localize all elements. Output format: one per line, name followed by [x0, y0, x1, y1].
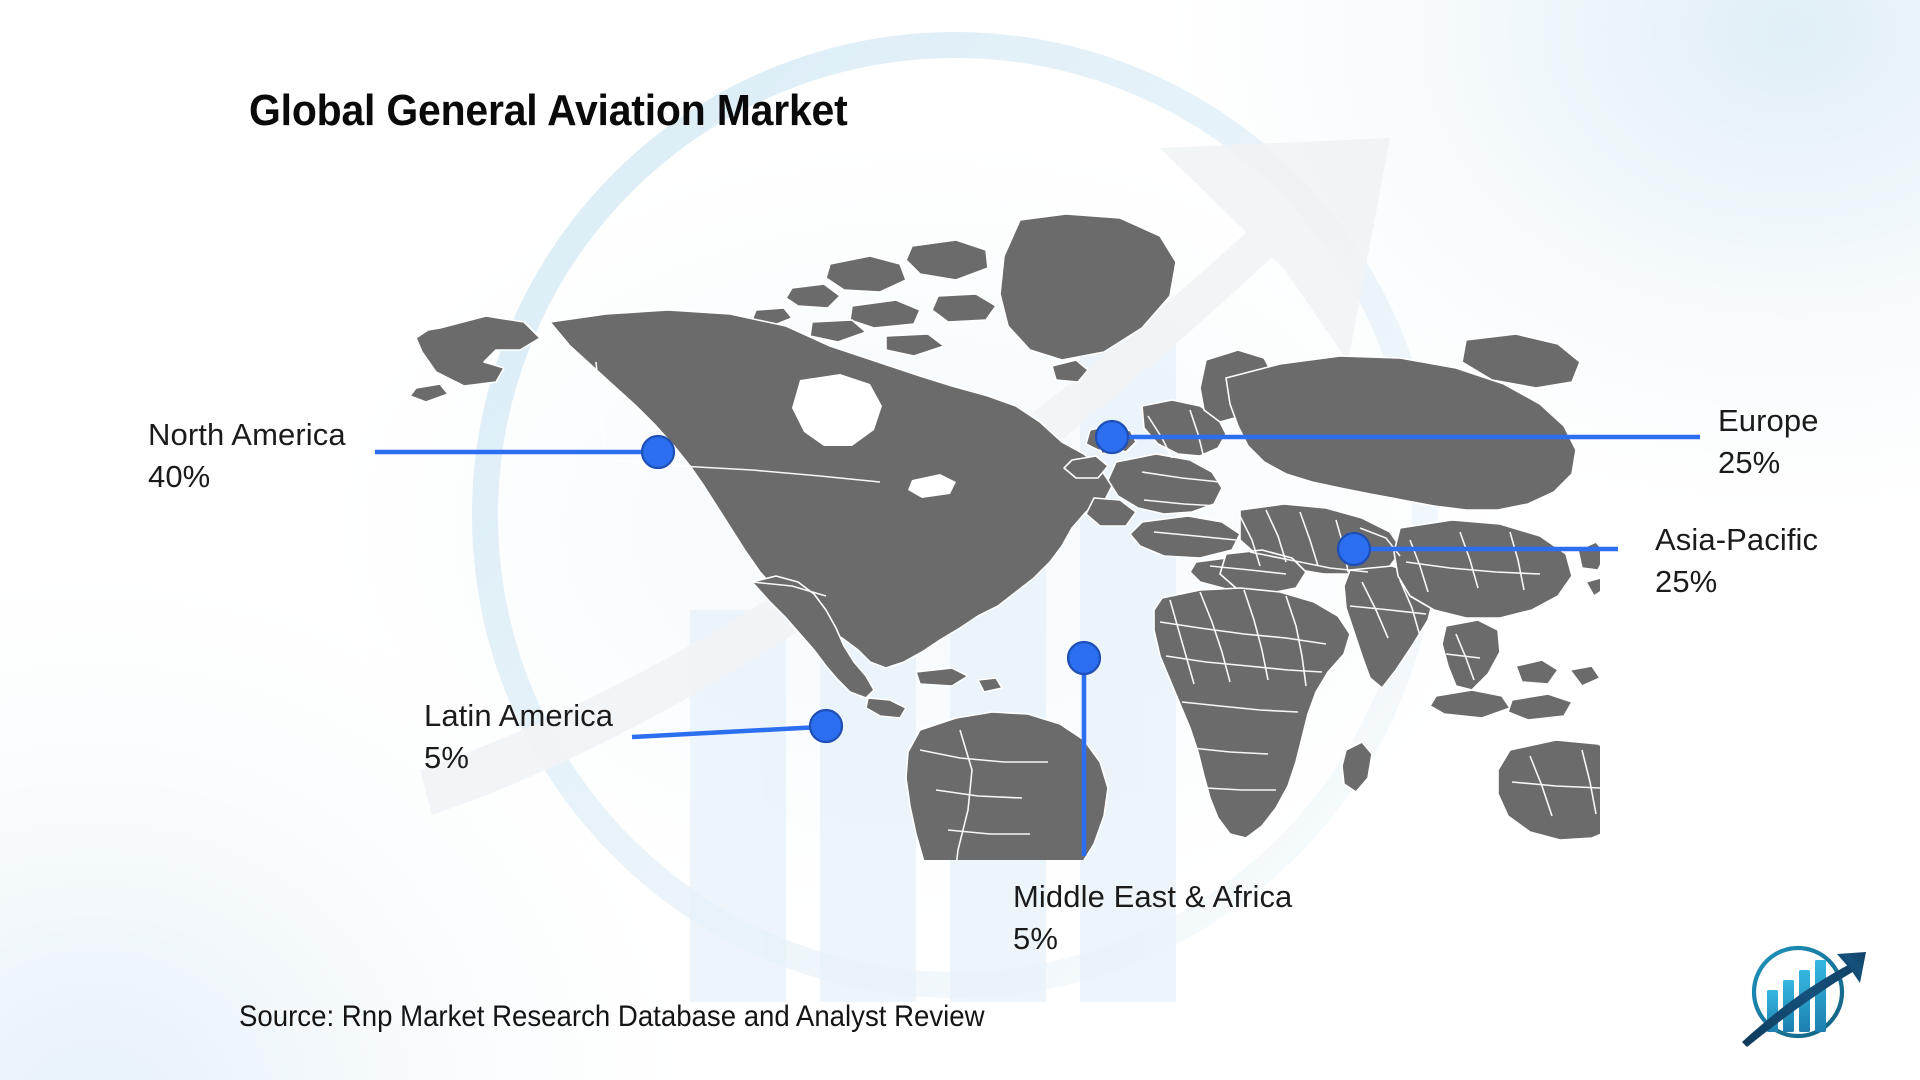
- callout-europe[interactable]: Europe 25%: [1718, 400, 1819, 485]
- callout-value-middle-east-africa: 5%: [1013, 918, 1292, 960]
- callout-value-latin-america: 5%: [424, 737, 613, 779]
- callout-value-europe: 25%: [1718, 442, 1819, 484]
- callout-label-europe: Europe: [1718, 400, 1819, 442]
- page-title: Global General Aviation Market: [249, 86, 848, 136]
- callout-asia-pacific[interactable]: Asia-Pacific 25%: [1655, 519, 1818, 604]
- callout-label-middle-east-africa: Middle East & Africa: [1013, 876, 1292, 918]
- infographic-canvas: Global General Aviation Market North Ame…: [0, 0, 1920, 1080]
- callout-value-north-america: 40%: [148, 456, 346, 498]
- callout-label-latin-america: Latin America: [424, 695, 613, 737]
- callout-value-asia-pacific: 25%: [1655, 561, 1818, 603]
- callout-label-north-america: North America: [148, 414, 346, 456]
- growth-chart-arrow-logo: [1738, 940, 1886, 1062]
- callout-latin-america[interactable]: Latin America 5%: [424, 695, 613, 780]
- callout-label-asia-pacific: Asia-Pacific: [1655, 519, 1818, 561]
- callout-north-america[interactable]: North America 40%: [148, 414, 346, 499]
- source-note: Source: Rnp Market Research Database and…: [239, 1000, 985, 1034]
- callout-middle-east-africa[interactable]: Middle East & Africa 5%: [1013, 876, 1292, 961]
